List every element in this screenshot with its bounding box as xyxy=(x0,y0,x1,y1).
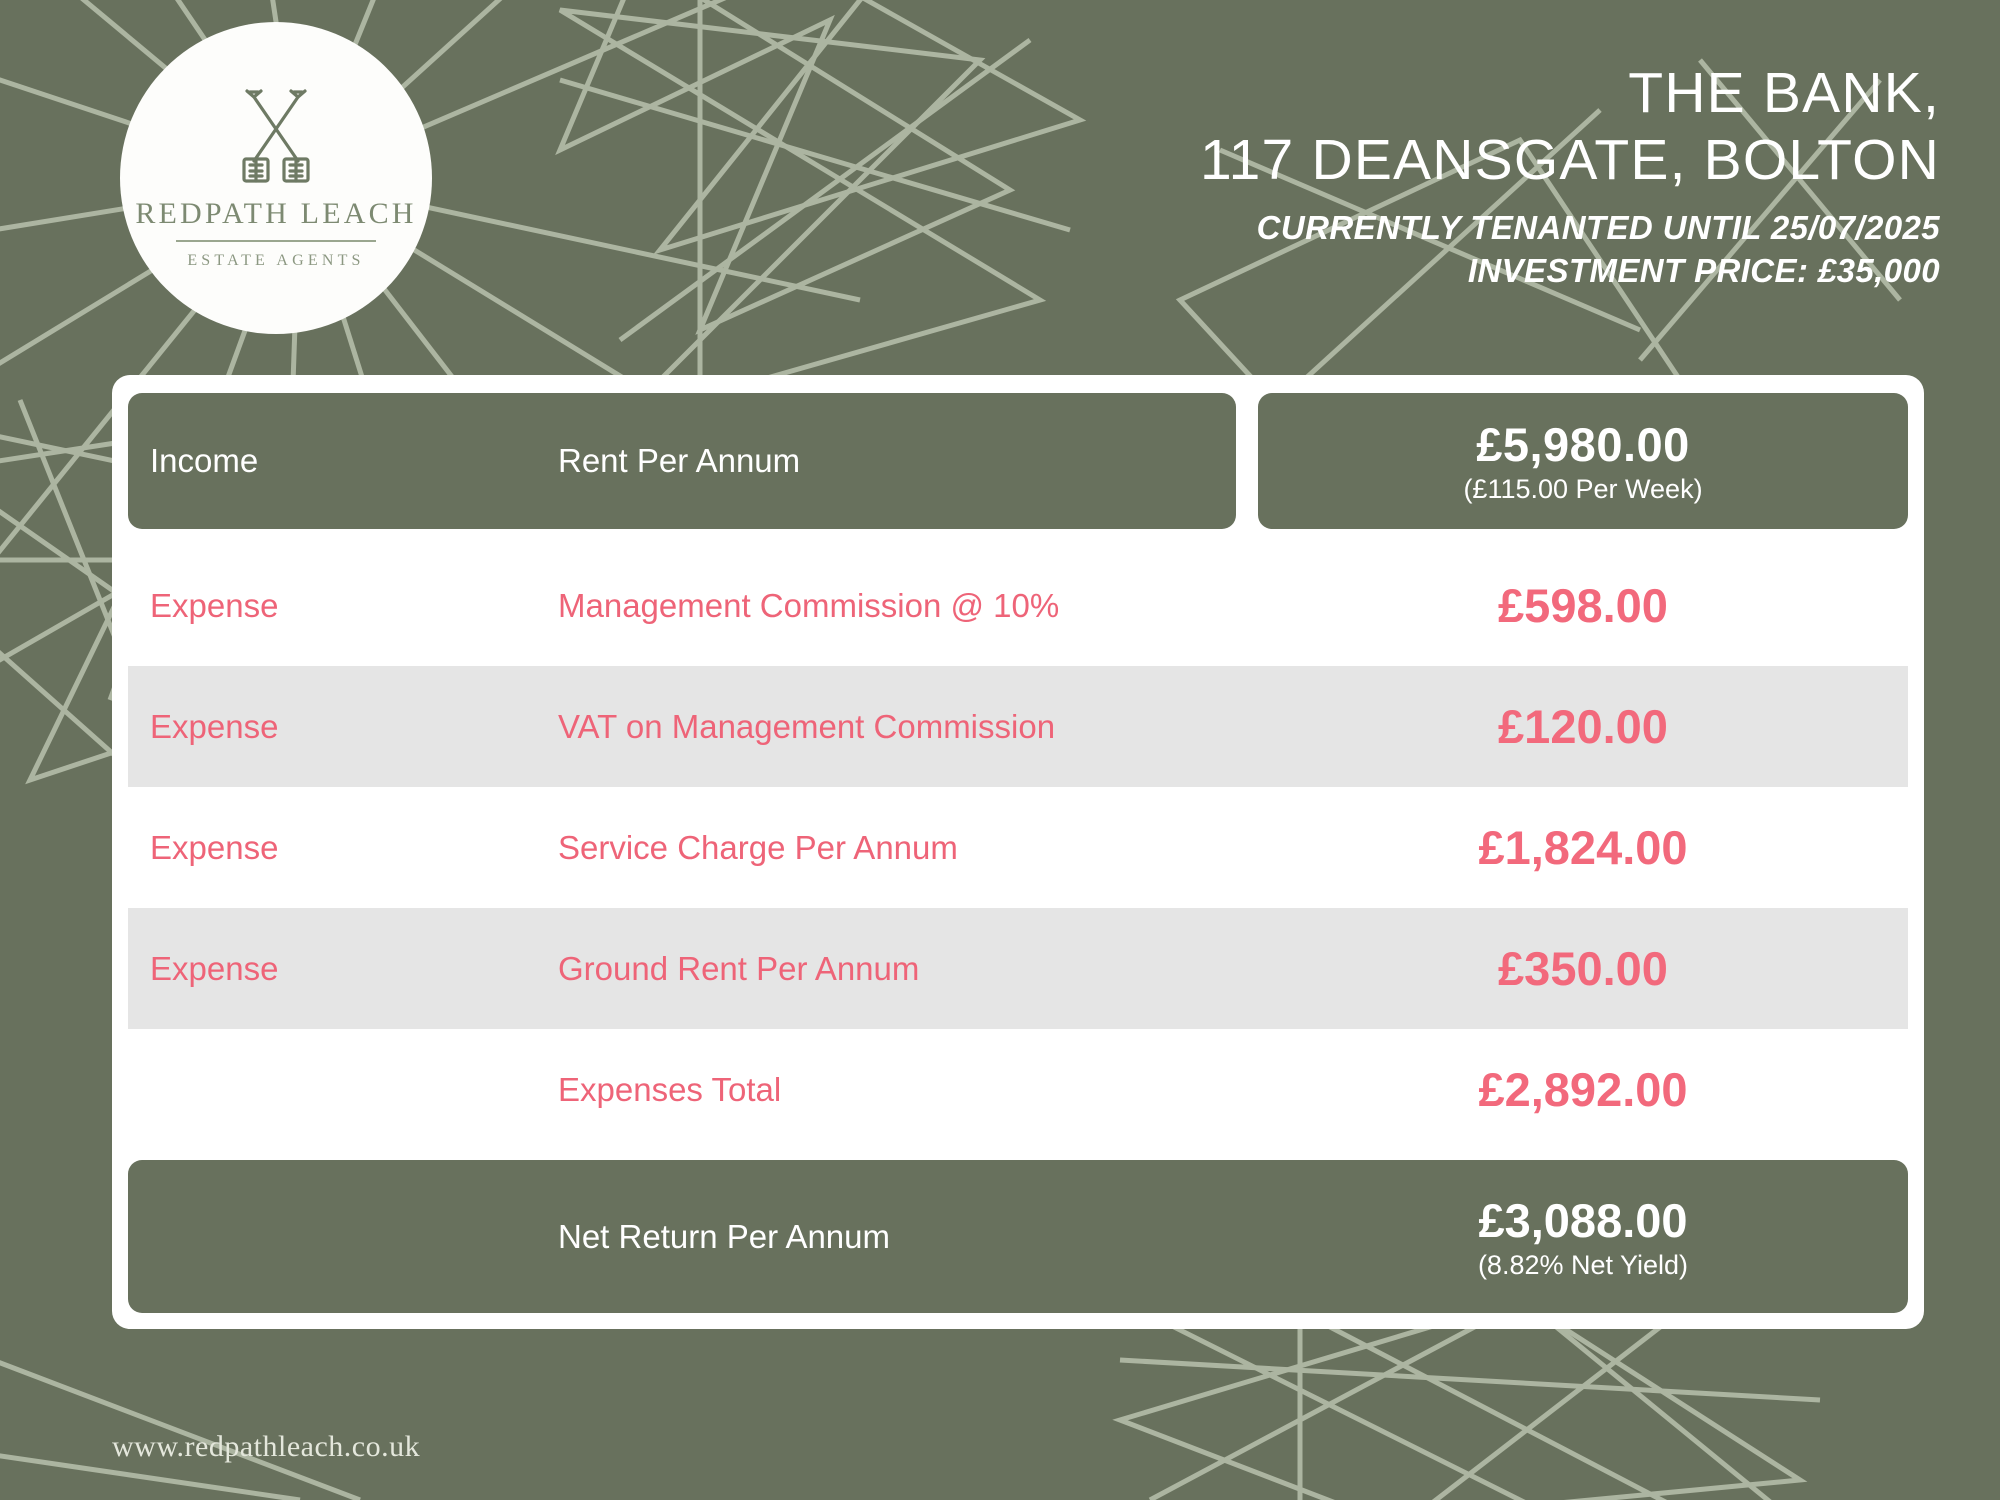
row-description: VAT on Management Commission xyxy=(558,708,1258,746)
row-description: Service Charge Per Annum xyxy=(558,829,1258,867)
expenses-total-label: Expenses Total xyxy=(558,1071,1258,1109)
net-return-amount: £3,088.00 xyxy=(1478,1193,1687,1248)
row-type: Expense xyxy=(128,708,558,746)
row-type: Expense xyxy=(128,950,558,988)
net-return-label: Net Return Per Annum xyxy=(558,1218,1258,1256)
income-description: Rent Per Annum xyxy=(558,442,1236,480)
expenses-total-amount: £2,892.00 xyxy=(1258,1062,1908,1117)
table-row: Expense VAT on Management Commission £12… xyxy=(128,666,1908,787)
row-amount: £1,824.00 xyxy=(1258,820,1908,875)
row-amount: £120.00 xyxy=(1258,699,1908,754)
page-title-line-1: THE BANK, xyxy=(1200,62,1940,125)
row-amount: £350.00 xyxy=(1258,941,1908,996)
table-row: Expense Ground Rent Per Annum £350.00 xyxy=(128,908,1908,1029)
income-type: Income xyxy=(128,442,558,480)
row-type: Expense xyxy=(128,587,558,625)
row-description: Management Commission @ 10% xyxy=(558,587,1258,625)
logo-divider xyxy=(176,240,376,242)
investment-price: INVESTMENT PRICE: £35,000 xyxy=(1200,249,1940,292)
net-return-yield: (8.82% Net Yield) xyxy=(1478,1250,1688,1281)
logo-brand-name: REDPATH LEACH xyxy=(135,197,416,231)
net-return-amount-cell: £3,088.00 (8.82% Net Yield) xyxy=(1258,1193,1908,1281)
crossed-keys-icon xyxy=(228,87,324,191)
table-row-income: Income Rent Per Annum £5,980.00 (£115.00… xyxy=(128,393,1908,529)
row-type: Expense xyxy=(128,829,558,867)
footer-website[interactable]: www.redpathleach.co.uk xyxy=(112,1430,420,1464)
tenancy-status: CURRENTLY TENANTED UNTIL 25/07/2025 xyxy=(1200,206,1940,249)
logo-subtitle: ESTATE AGENTS xyxy=(187,252,364,270)
income-amount: £5,980.00 xyxy=(1476,417,1690,472)
investment-breakdown-card: Income Rent Per Annum £5,980.00 (£115.00… xyxy=(112,375,1924,1329)
income-amount-cell: £5,980.00 (£115.00 Per Week) xyxy=(1258,393,1908,529)
income-row-labels: Income Rent Per Annum xyxy=(128,393,1236,529)
table-row: Expense Service Charge Per Annum £1,824.… xyxy=(128,787,1908,908)
page-title-line-2: 117 DEANSGATE, BOLTON xyxy=(1200,129,1940,192)
company-logo: REDPATH LEACH ESTATE AGENTS xyxy=(120,22,432,334)
row-amount: £598.00 xyxy=(1258,578,1908,633)
table-row-net-return: Net Return Per Annum £3,088.00 (8.82% Ne… xyxy=(128,1160,1908,1313)
row-description: Ground Rent Per Annum xyxy=(558,950,1258,988)
table-row-expenses-total: Expenses Total £2,892.00 xyxy=(128,1029,1908,1150)
table-row: Expense Management Commission @ 10% £598… xyxy=(128,545,1908,666)
header: THE BANK, 117 DEANSGATE, BOLTON CURRENTL… xyxy=(1200,62,1940,292)
income-amount-note: (£115.00 Per Week) xyxy=(1463,474,1702,505)
